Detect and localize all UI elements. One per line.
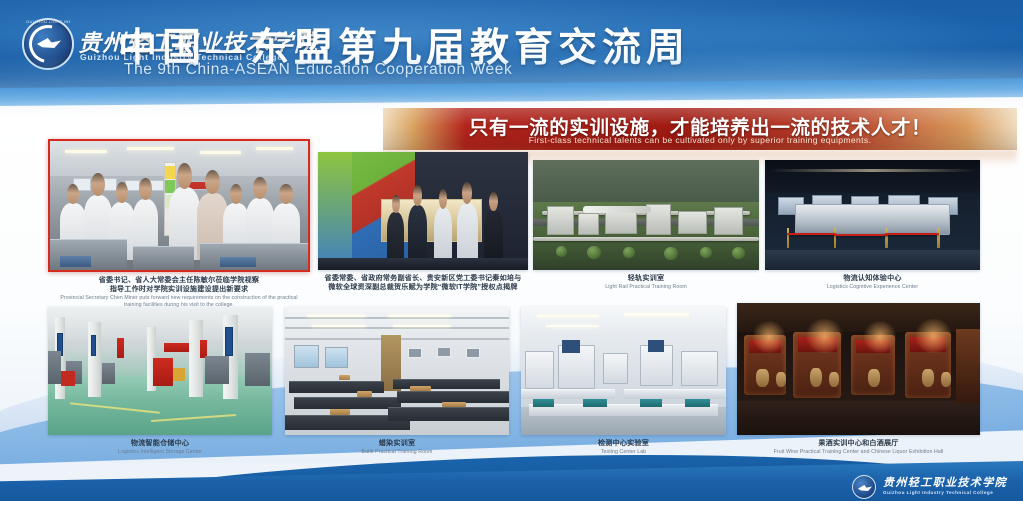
caption-cn-line1: 省委书记、省人大常委会主任陈敏尔莅临学院视察 bbox=[30, 276, 328, 285]
photo-caption: 蜡染实训室 Batik Practical Training Room bbox=[267, 439, 527, 456]
photo-logistics-cognitive-center[interactable]: 物流认知体验中心 Logistics Cognitive Experience … bbox=[765, 160, 980, 270]
photo-frame bbox=[737, 303, 980, 435]
photo-testing-center-lab[interactable]: 检测中心实验室 Testing Center Lab bbox=[521, 307, 726, 435]
photo-caption: 轻轨实训室 Light Rail Practical Training Room bbox=[515, 274, 777, 291]
photo-wine-center-exhibition-hall[interactable]: 果酒实训中心和白酒展厅 Fruit Wine Practical Trainin… bbox=[737, 303, 980, 435]
photo-caption: 检测中心实验室 Testing Center Lab bbox=[503, 439, 744, 456]
caption-en: Batik Practical Training Room bbox=[267, 449, 527, 456]
photo-image bbox=[765, 160, 980, 270]
photo-frame bbox=[765, 160, 980, 270]
photo-caption: 省委常委、省政府常务副省长、贵安新区党工委书记秦如培与 微软全球资深副总裁贺乐赋… bbox=[300, 274, 546, 292]
photo-caption: 果酒实训中心和白酒展厅 Fruit Wine Practical Trainin… bbox=[719, 439, 998, 456]
footer-logo-text: 贵州轻工职业技术学院 Guizhou Light Industry Techni… bbox=[883, 478, 1007, 496]
photo-image bbox=[318, 152, 528, 270]
photo-light-rail-room[interactable]: 轻轨实训室 Light Rail Practical Training Room bbox=[533, 160, 759, 270]
footer-bottom-strip bbox=[0, 501, 1023, 513]
photo-frame bbox=[285, 307, 509, 435]
photo-frame bbox=[318, 152, 528, 270]
photo-caption: 物流认知体验中心 Logistics Cognitive Experience … bbox=[747, 274, 998, 291]
caption-cn-line1: 果酒实训中心和白酒展厅 bbox=[719, 439, 998, 448]
photo-logistics-storage-center[interactable]: 物流智能仓储中心 Logistics Intelligent Storage C… bbox=[48, 307, 272, 435]
photo-caption: 省委书记、省人大常委会主任陈敏尔莅临学院视察 指导工作时对学院实训设施建设提出新… bbox=[30, 276, 328, 309]
caption-cn-line1: 物流智能仓储中心 bbox=[30, 439, 290, 448]
slogan-banner: 只有一流的实训设施，才能培养出一流的技术人才！ First-class tech… bbox=[383, 108, 1017, 150]
footer-college-name-en: Guizhou Light Industry Technical College bbox=[883, 491, 1007, 496]
photo-image bbox=[533, 160, 759, 270]
header-band: GUIZHOU LIGHT INDUSTRY 贵州轻工职业技术学院 Guizho… bbox=[0, 0, 1023, 90]
photo-frame bbox=[48, 307, 272, 435]
caption-cn-line1: 省委常委、省政府常务副省长、贵安新区党工委书记秦如培与 bbox=[300, 274, 546, 283]
caption-cn-line1: 检测中心实验室 bbox=[503, 439, 744, 448]
caption-cn-line1: 轻轨实训室 bbox=[515, 274, 777, 283]
caption-en: Logistics Intelligent Storage Center bbox=[30, 449, 290, 456]
caption-en: Fruit Wine Practical Training Center and… bbox=[719, 449, 998, 456]
caption-en: Logistics Cognitive Experience Center bbox=[747, 284, 998, 291]
caption-cn-line2: 指导工作时对学院实训设施建设提出新要求 bbox=[30, 285, 328, 294]
footer-emblem-icon bbox=[852, 475, 876, 499]
photo-batik-training-room[interactable]: 蜡染实训室 Batik Practical Training Room bbox=[285, 307, 509, 435]
photo-frame bbox=[521, 307, 726, 435]
emblem-arc-text: GUIZHOU LIGHT INDUSTRY bbox=[26, 19, 70, 33]
photo-microsoft-it-academy[interactable]: 省委常委、省政府常务副省长、贵安新区党工委书记秦如培与 微软全球资深副总裁贺乐赋… bbox=[318, 152, 528, 270]
photo-frame bbox=[48, 139, 310, 272]
photo-image bbox=[48, 307, 272, 435]
caption-cn-line1: 蜡染实训室 bbox=[267, 439, 527, 448]
caption-en: Light Rail Practical Training Room bbox=[515, 284, 777, 291]
poster-canvas: GUIZHOU LIGHT INDUSTRY 贵州轻工职业技术学院 Guizho… bbox=[0, 0, 1023, 513]
photo-caption: 物流智能仓储中心 Logistics Intelligent Storage C… bbox=[30, 439, 290, 456]
slogan-text-en: First-class technical talents can be cul… bbox=[383, 135, 1017, 145]
caption-cn-line2: 微软全球资深副总裁贺乐赋为学院“微软IT学院”授权点揭牌 bbox=[300, 283, 546, 292]
photo-frame bbox=[533, 160, 759, 270]
photo-image bbox=[50, 141, 308, 270]
footer-logo: 贵州轻工职业技术学院 Guizhou Light Industry Techni… bbox=[852, 475, 1007, 499]
caption-cn-line1: 物流认知体验中心 bbox=[747, 274, 998, 283]
footer-college-name-cn: 贵州轻工职业技术学院 bbox=[883, 478, 1007, 490]
photo-image bbox=[737, 303, 980, 435]
photo-image bbox=[285, 307, 509, 435]
photo-image bbox=[521, 307, 726, 435]
photo-secretary-visit[interactable]: 省委书记、省人大常委会主任陈敏尔莅临学院视察 指导工作时对学院实训设施建设提出新… bbox=[48, 139, 310, 272]
